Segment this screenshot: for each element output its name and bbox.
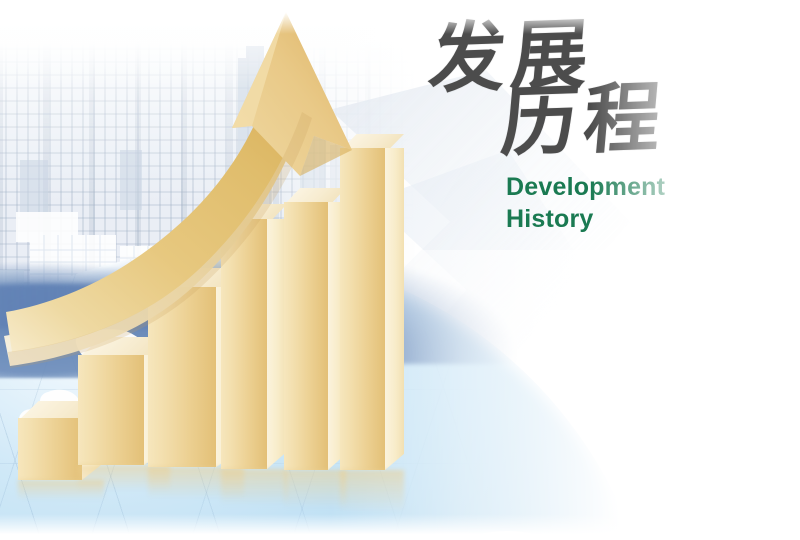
bar-4-reflection [221,469,287,505]
bar-4 [221,219,287,469]
title-block: 发展 历程 Development History [428,18,758,236]
title-chinese-line-2: 历程 [424,78,762,162]
bar-6-reflection [340,470,404,512]
bar-4-front-face [221,219,267,469]
bar-6-side-face [385,148,404,470]
bar-5-reflection [284,470,346,508]
bar-6 [340,148,404,470]
bar-5 [284,202,346,470]
bar-2-front-face [78,355,144,465]
development-history-banner: 发展 历程 Development History [0,0,800,540]
bar-5-front-face [284,202,328,470]
title-english-line-2: History [506,204,758,236]
title-english-line-1: Development [506,172,758,204]
bar-3-front-face [148,287,216,467]
bar-1-front-face [18,418,82,480]
bar-6-front-face [340,148,385,470]
